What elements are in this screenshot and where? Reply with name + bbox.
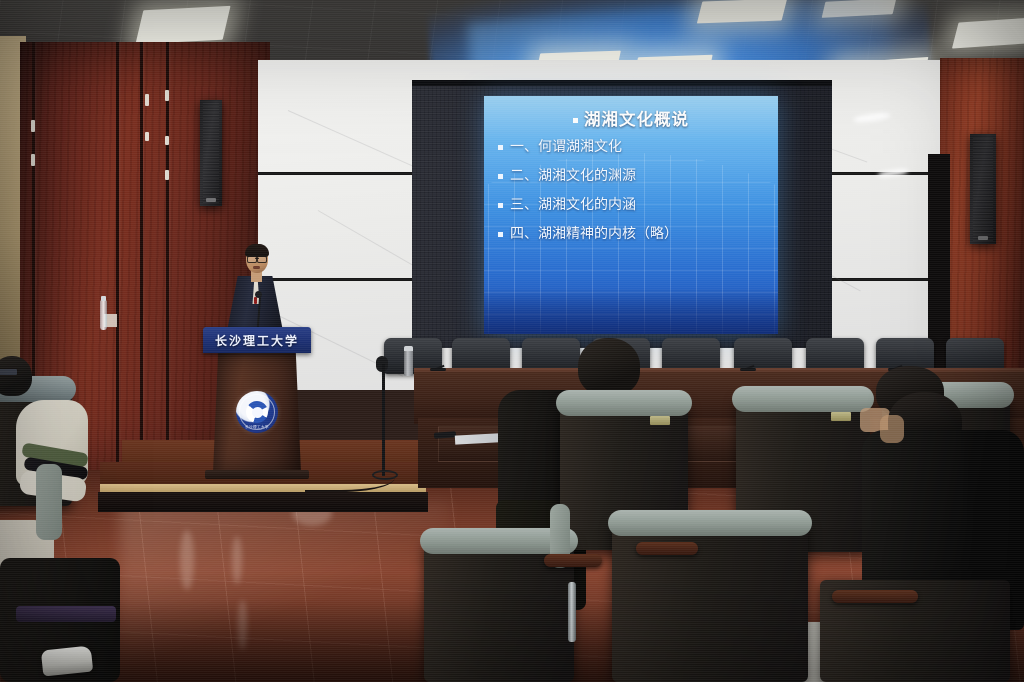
glasses-icon [247,256,267,261]
presenter-red-lapel-accent [254,297,257,304]
podium-name-banner: 长沙理工大学 [203,327,311,353]
university-emblem-icon: 长沙理工大学 [236,391,278,433]
list-item: 二、湖湘文化的渊源 [498,165,768,185]
water-bottle [100,300,107,330]
stage-skirt [98,492,428,512]
audience-head [578,338,640,396]
auditorium-seat-foreground[interactable] [612,520,808,682]
lecture-hall-photo: 湖湘文化概说 [0,0,1024,682]
ceiling-light-panel [697,0,787,23]
list-item: 四、湖湘精神的内核（略） [498,223,768,243]
seat-armrest-accent [16,606,116,622]
wall-seam-highlight [145,94,149,106]
seat-headrest-pad [732,386,874,412]
floor-microphone-stand [382,364,385,476]
seat-chrome-leg [568,582,576,642]
emblem-center [252,407,263,418]
wall-speaker-right [970,134,996,244]
wall-seam-highlight [145,132,149,141]
table-microphone [430,363,446,371]
seat-number-tag [650,416,670,425]
slide-item-text: 一、何谓湖湘文化 [510,139,622,155]
slide-item-text: 四、湖湘精神的内核（略） [510,226,678,242]
ceiling-light-panel [135,6,230,44]
projection-screen: 湖湘文化概说 一、何谓湖湘文化 二、湖湘文化的渊源 三、湖湘文化的内涵 四、湖湘… [484,96,778,334]
wall-seam-highlight [31,120,35,132]
table-microphone [740,363,756,371]
podium: 长沙理工大学 长沙理工大学 [203,327,311,487]
marble-gloss-reflection [878,168,909,178]
wall-seam-highlight [165,90,169,101]
slide-item-text: 二、湖湘文化的渊源 [510,168,636,184]
emblem-label: 长沙理工大学 [236,425,278,430]
seat-headrest-pad [556,390,692,416]
podium-base [205,470,309,479]
audience-head [0,356,32,396]
wall-seam-highlight [165,170,169,180]
bottle-cap [101,296,106,301]
wall-panel-seam [166,42,169,472]
seat-number-tag [831,412,851,421]
wall-seam-highlight [165,136,169,145]
speaker-badge [206,198,216,202]
auditorium-seat-sidepanel[interactable] [548,496,602,626]
presenter-mouth [253,266,260,269]
slide-bullet-icon [573,118,578,123]
slide-title-text: 湖湘文化概说 [584,110,689,129]
seat-side-pad [36,464,62,540]
ceiling-light-panel [952,17,1024,48]
seat-armrest[interactable] [832,590,918,603]
auditorium-seat-foreground[interactable] [820,580,1010,682]
seat-armrest[interactable] [544,554,602,567]
slide-bullet-list: 一、何谓湖湘文化 二、湖湘文化的渊源 三、湖湘文化的内涵 四、湖湘精神的内核（略… [498,136,768,252]
slide-bullet-icon [498,145,503,150]
list-item: 三、湖湘文化的内涵 [498,194,768,214]
thermos-cap [404,346,413,351]
seat-headrest-pad [608,510,812,536]
speaker-grill [203,103,219,203]
slide-item-text: 三、湖湘文化的内涵 [510,197,636,213]
slide-bullet-icon [498,203,503,208]
floor-microphone-base [372,470,398,480]
thermos-cup [404,350,413,376]
audience-face-profile [880,415,904,443]
slide-bottom-gradient [484,288,778,334]
speaker-badge [978,236,988,240]
list-item: 一、何谓湖湘文化 [498,136,768,156]
speaker-grill [973,137,993,241]
wall-panel-seam [116,42,119,472]
marble-gloss-reflection [854,112,891,124]
podium-banner-text: 长沙理工大学 [203,327,311,353]
wall-panel-seam [140,42,143,472]
audience-shoe [41,645,93,676]
podium-microphone-head [255,291,262,298]
slide-bullet-icon [498,232,503,237]
wall-speaker-left [200,100,222,206]
wall-seam-highlight [31,154,35,166]
glasses-icon [0,368,18,376]
seat-armrest[interactable] [636,542,698,555]
slide-title: 湖湘文化概说 [484,106,778,130]
slide-bullet-icon [498,174,503,179]
